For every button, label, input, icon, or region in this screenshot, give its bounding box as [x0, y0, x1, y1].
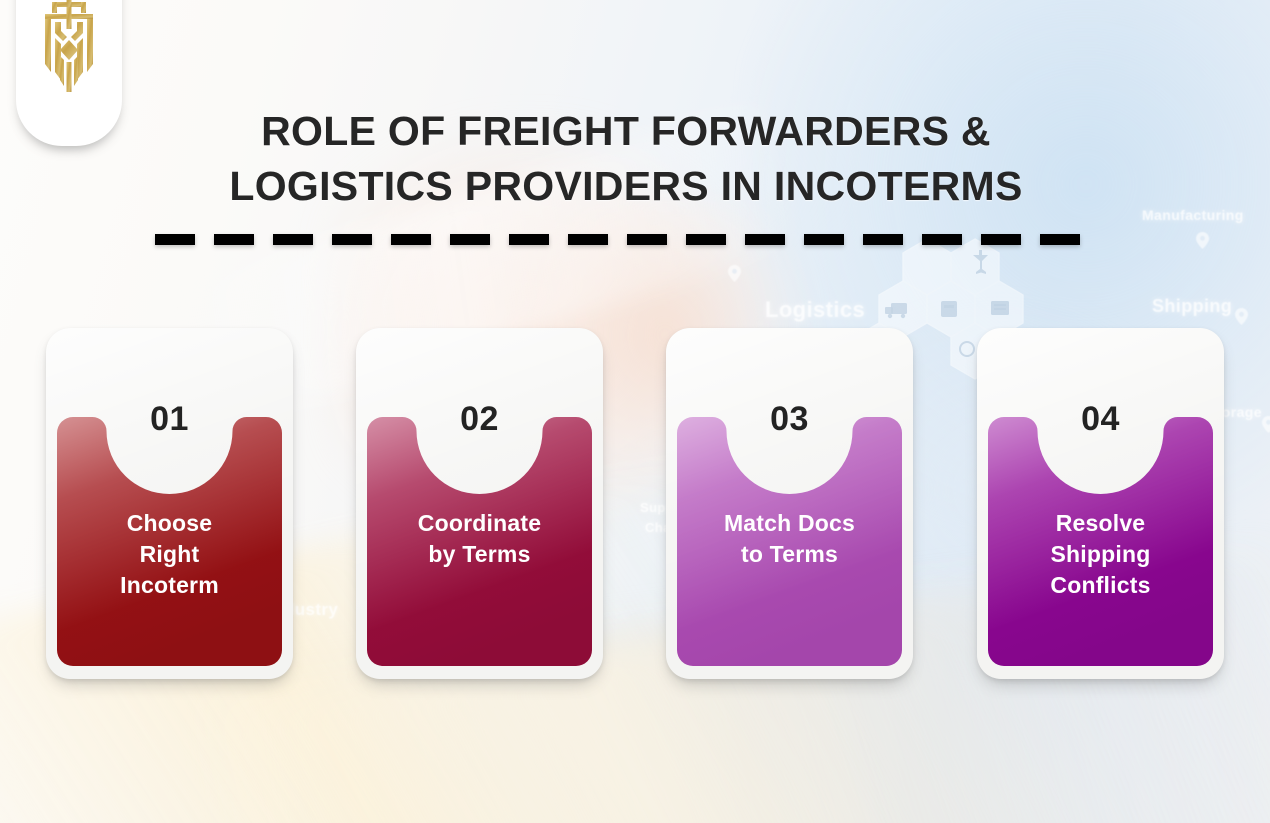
infographic-canvas: LogisticsManufacturingShippingStorageInd… — [0, 0, 1270, 823]
card-coordinate-by-terms[interactable]: 02Coordinate by Terms — [356, 328, 603, 679]
card-label: Resolve Shipping Conflicts — [991, 508, 1210, 601]
card-label: Choose Right Incoterm — [60, 508, 279, 601]
card-choose-right-incoterm[interactable]: 01Choose Right Incoterm — [46, 328, 293, 679]
card-number-text: 01 — [150, 400, 189, 439]
card-resolve-shipping-conflicts[interactable]: 04Resolve Shipping Conflicts — [977, 328, 1224, 679]
card-label: Match Docs to Terms — [680, 508, 899, 570]
steps-card-row: 01Choose Right Incoterm02Coordinate by T… — [0, 0, 1270, 823]
card-number-text: 04 — [1081, 400, 1120, 439]
card-match-docs-to-terms[interactable]: 03Match Docs to Terms — [666, 328, 913, 679]
card-number: 02 — [356, 328, 603, 417]
card-label: Coordinate by Terms — [370, 508, 589, 570]
card-number: 01 — [46, 328, 293, 417]
card-number: 03 — [666, 328, 913, 417]
card-number-text: 03 — [770, 400, 809, 439]
card-number-text: 02 — [460, 400, 499, 439]
card-number: 04 — [977, 328, 1224, 417]
